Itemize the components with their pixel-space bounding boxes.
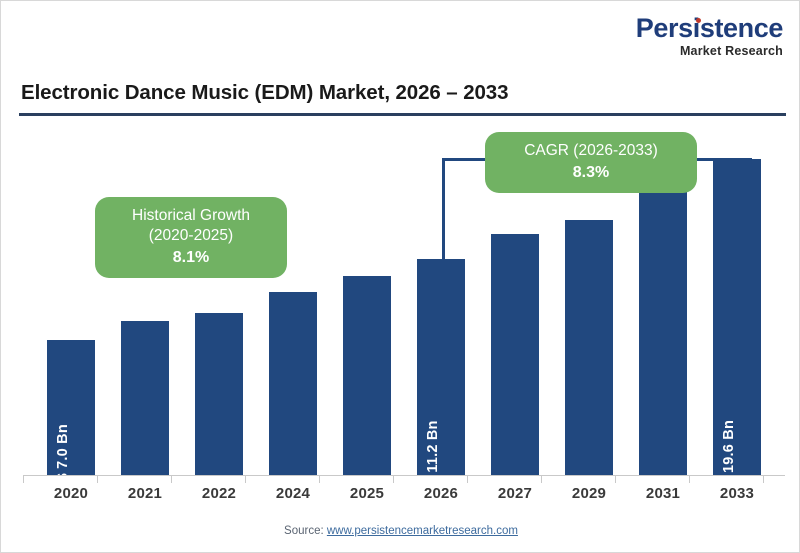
callout-cagr-value: 8.3% [499,163,683,183]
bar-2027 [491,234,539,475]
callout-cagr-line1: CAGR (2026-2033) [499,141,683,161]
x-axis-tick-4 [319,476,320,483]
x-axis-label-2033: 2033 [700,485,774,502]
x-axis-tick-9 [689,476,690,483]
cagr-connector-left [442,158,445,261]
plot-area: US$ 7.0 BnUS$ 11.2 BnUS$ 19.6 Bn 2020202… [1,1,800,553]
source-prefix: Source: [284,525,327,537]
x-axis-tick-1 [97,476,98,483]
bar-2022 [195,313,243,475]
x-axis-label-2025: 2025 [330,485,404,502]
callout-hist-value: 8.1% [109,248,273,268]
x-axis-tick-5 [393,476,394,483]
callout-hist-line1: Historical Growth [109,206,273,226]
x-axis-label-2027: 2027 [478,485,552,502]
x-axis-label-2020: 2020 [34,485,108,502]
bar-2029 [565,220,613,475]
bar-2026: US$ 11.2 Bn [417,259,465,475]
x-axis-tick-10 [763,476,764,483]
source-note: Source: www.persistencemarketresearch.co… [1,525,800,537]
bar-2031 [639,190,687,475]
bar-2025 [343,276,391,475]
x-axis-label-2026: 2026 [404,485,478,502]
x-axis-tick-8 [615,476,616,483]
bar-2021 [121,321,169,475]
x-axis-label-2022: 2022 [182,485,256,502]
callout-cagr: CAGR (2026-2033) 8.3% [485,132,697,193]
x-axis-label-2021: 2021 [108,485,182,502]
x-axis-tick-2 [171,476,172,483]
x-axis-label-2031: 2031 [626,485,700,502]
callout-hist-line2: (2020-2025) [109,226,273,246]
x-axis-line [23,475,785,476]
chart-image: Persistence Market Research Electronic D… [0,0,800,553]
x-axis-label-2024: 2024 [256,485,330,502]
x-axis-tick-0 [23,476,24,483]
bar-2033: US$ 19.6 Bn [713,159,761,475]
x-axis-tick-7 [541,476,542,483]
source-link[interactable]: www.persistencemarketresearch.com [327,525,518,537]
x-axis-tick-3 [245,476,246,483]
bar-2024 [269,292,317,475]
callout-historical-growth: Historical Growth (2020-2025) 8.1% [95,197,287,278]
x-axis-tick-6 [467,476,468,483]
x-axis-label-2029: 2029 [552,485,626,502]
bar-2020: US$ 7.0 Bn [47,340,95,475]
